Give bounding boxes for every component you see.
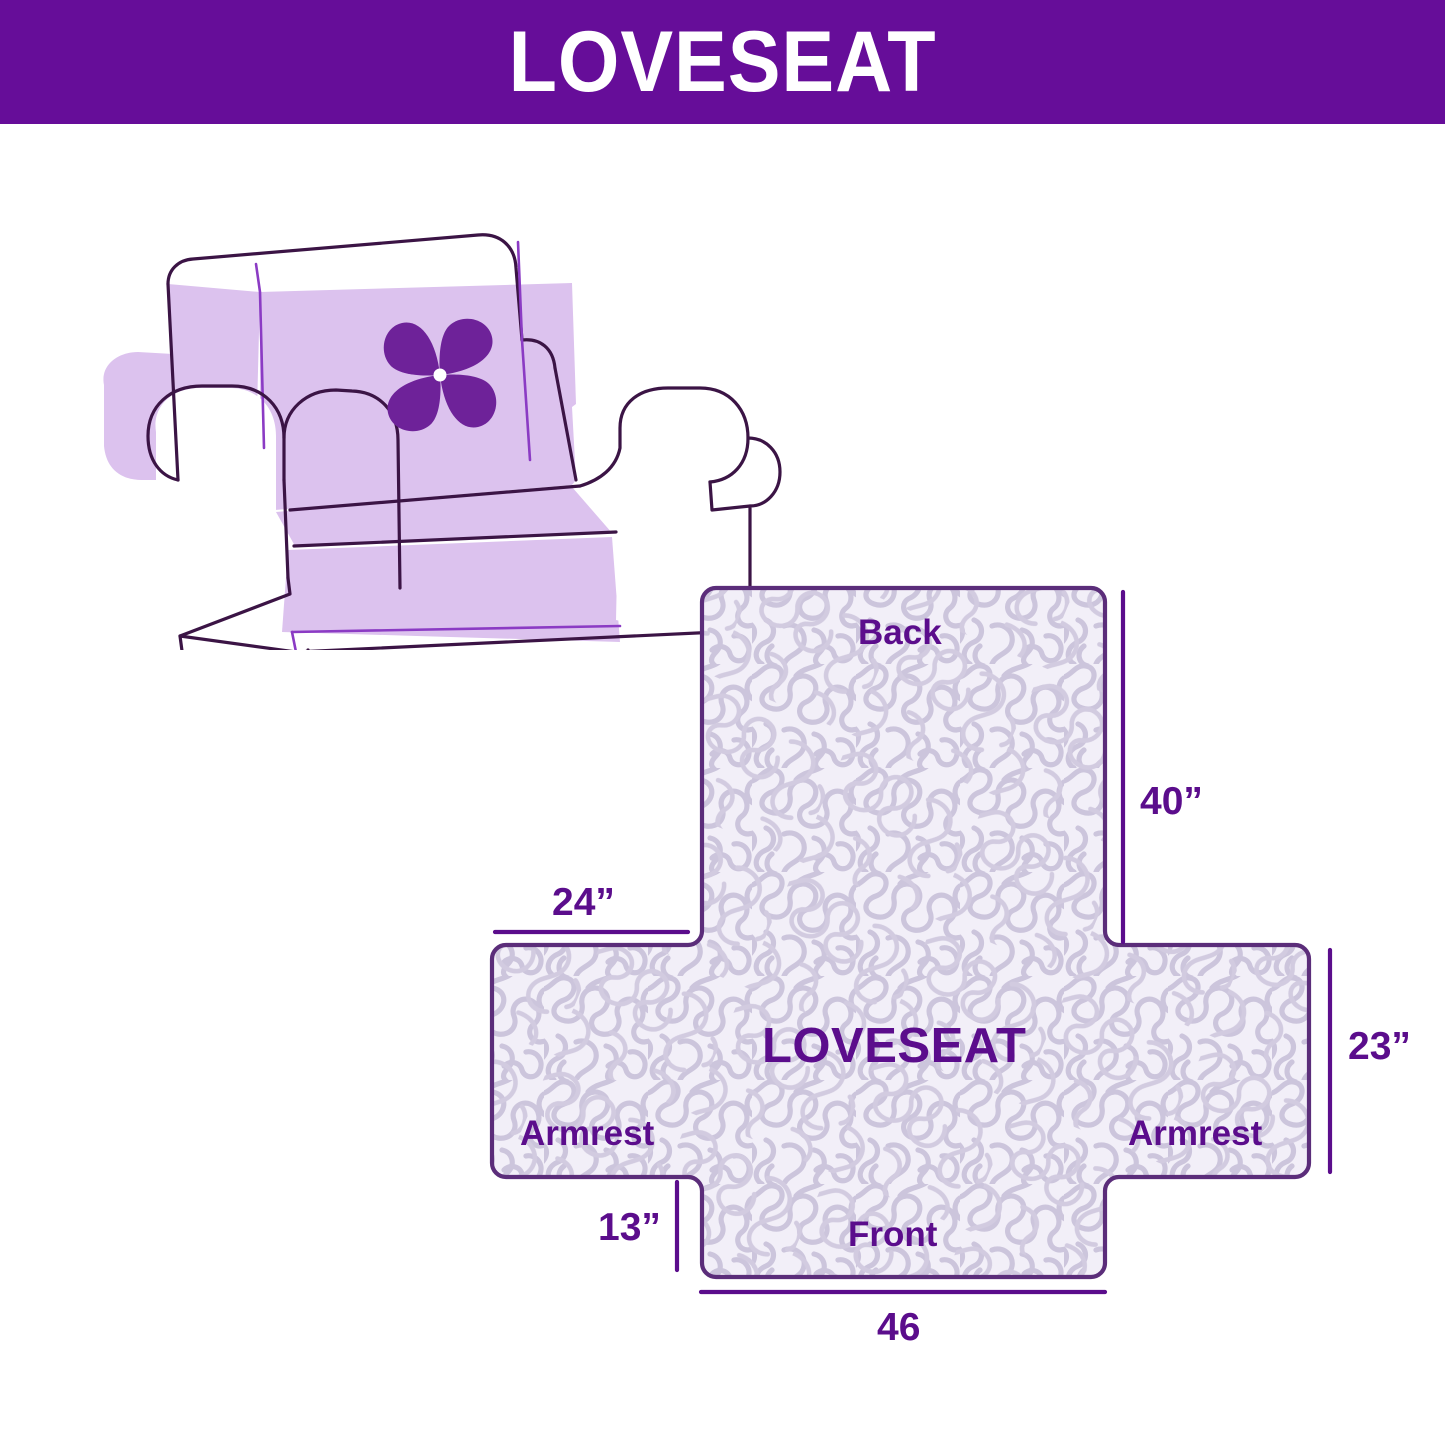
page-title: LOVESEAT: [509, 19, 937, 105]
cover-outline-shape: [440, 560, 1445, 1350]
header-banner: LOVESEAT: [0, 0, 1445, 124]
cover-dimension-diagram: Back 40” 24” LOVESEAT Armrest Armrest 23…: [440, 560, 1445, 1350]
dimension-label-46: 46: [877, 1308, 920, 1347]
panel-label-front: Front: [848, 1217, 937, 1252]
panel-label-armrest-left: Armrest: [520, 1116, 654, 1151]
dimension-label-40: 40”: [1140, 782, 1203, 821]
dimension-label-23: 23”: [1348, 1027, 1411, 1066]
dimension-label-24: 24”: [552, 883, 615, 922]
product-dimension-infographic: LOVESEAT .ln { fill:none; stroke:#3B1445…: [0, 0, 1445, 1445]
panel-label-armrest-right: Armrest: [1128, 1116, 1262, 1151]
diagram-center-label: LOVESEAT: [762, 1022, 1026, 1071]
panel-label-back: Back: [858, 615, 942, 650]
dimension-label-13: 13”: [598, 1208, 661, 1247]
